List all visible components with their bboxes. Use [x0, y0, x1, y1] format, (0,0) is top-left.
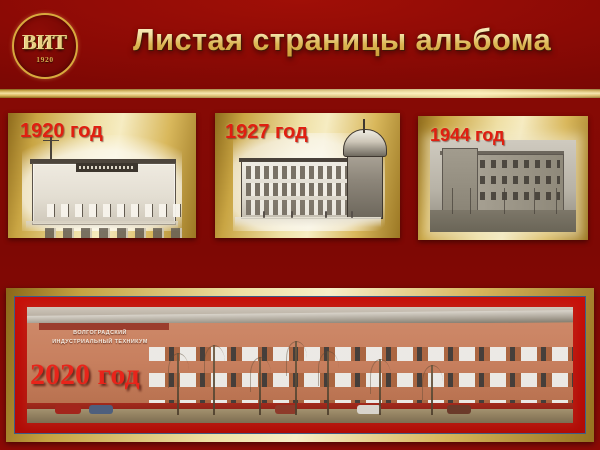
photo-card-1920[interactable]: 1920 год — [8, 113, 196, 238]
logo-mark-text: ВИТ — [12, 30, 78, 55]
window-row-shape — [480, 176, 560, 184]
window-row-shape — [246, 166, 350, 179]
photo-card-1944[interactable]: 1944 год — [418, 116, 588, 240]
wall-sign-text: ВОЛГОГРАДСКИЙ ИНДУСТРИАЛЬНЫЙ ТЕХНИКУМ — [45, 329, 155, 347]
photo-image-1927 — [233, 133, 385, 231]
building-facade-shape — [241, 161, 355, 219]
tree-shape — [470, 188, 471, 214]
ground-shape — [26, 221, 178, 229]
pedestrian-shape — [325, 211, 327, 218]
vit-emblem-logo: ВИТ 1920 — [12, 13, 78, 79]
tree-shape — [534, 188, 535, 214]
window-row-shape — [480, 160, 560, 168]
page-title: Листая страницы альбома — [96, 22, 588, 58]
photo-label-1944: 1944 год — [430, 125, 505, 146]
shop-signboard-shape — [76, 163, 138, 172]
historic-photo-row: 1920 год 1927 год — [0, 100, 600, 250]
pedestrian-shape — [263, 211, 265, 218]
building-end-wall-shape — [442, 148, 478, 212]
window-row-shape — [246, 200, 350, 215]
presentation-slide: ВИТ 1920 Листая страницы альбома 1920 го… — [0, 0, 600, 450]
photo-image-1920 — [22, 135, 182, 231]
photo-label-1920: 1920 год — [20, 120, 103, 143]
pedestrian-shape — [291, 211, 293, 218]
tree-shape — [504, 188, 505, 214]
dome-shape — [343, 129, 387, 157]
window-row-shape — [480, 192, 560, 200]
window-row-shape — [246, 183, 350, 196]
spire-shape — [363, 119, 365, 133]
shopfront-row-shape — [45, 228, 183, 238]
tree-shape — [556, 188, 557, 214]
photo-label-2020: 2020 год — [30, 358, 140, 392]
pedestrian-shape — [351, 211, 353, 218]
tree-shape — [452, 188, 453, 214]
photo-card-1927[interactable]: 1927 год — [215, 113, 400, 238]
logo-year-text: 1920 — [12, 55, 78, 64]
ground-shape — [235, 217, 381, 227]
photo-label-1927: 1927 год — [225, 121, 308, 144]
window-row-shape — [47, 204, 181, 217]
slide-header: ВИТ 1920 Листая страницы альбома — [0, 0, 600, 90]
building-body-shape — [32, 163, 176, 225]
gold-divider-band — [0, 89, 600, 98]
photo-image-1944 — [430, 140, 576, 232]
